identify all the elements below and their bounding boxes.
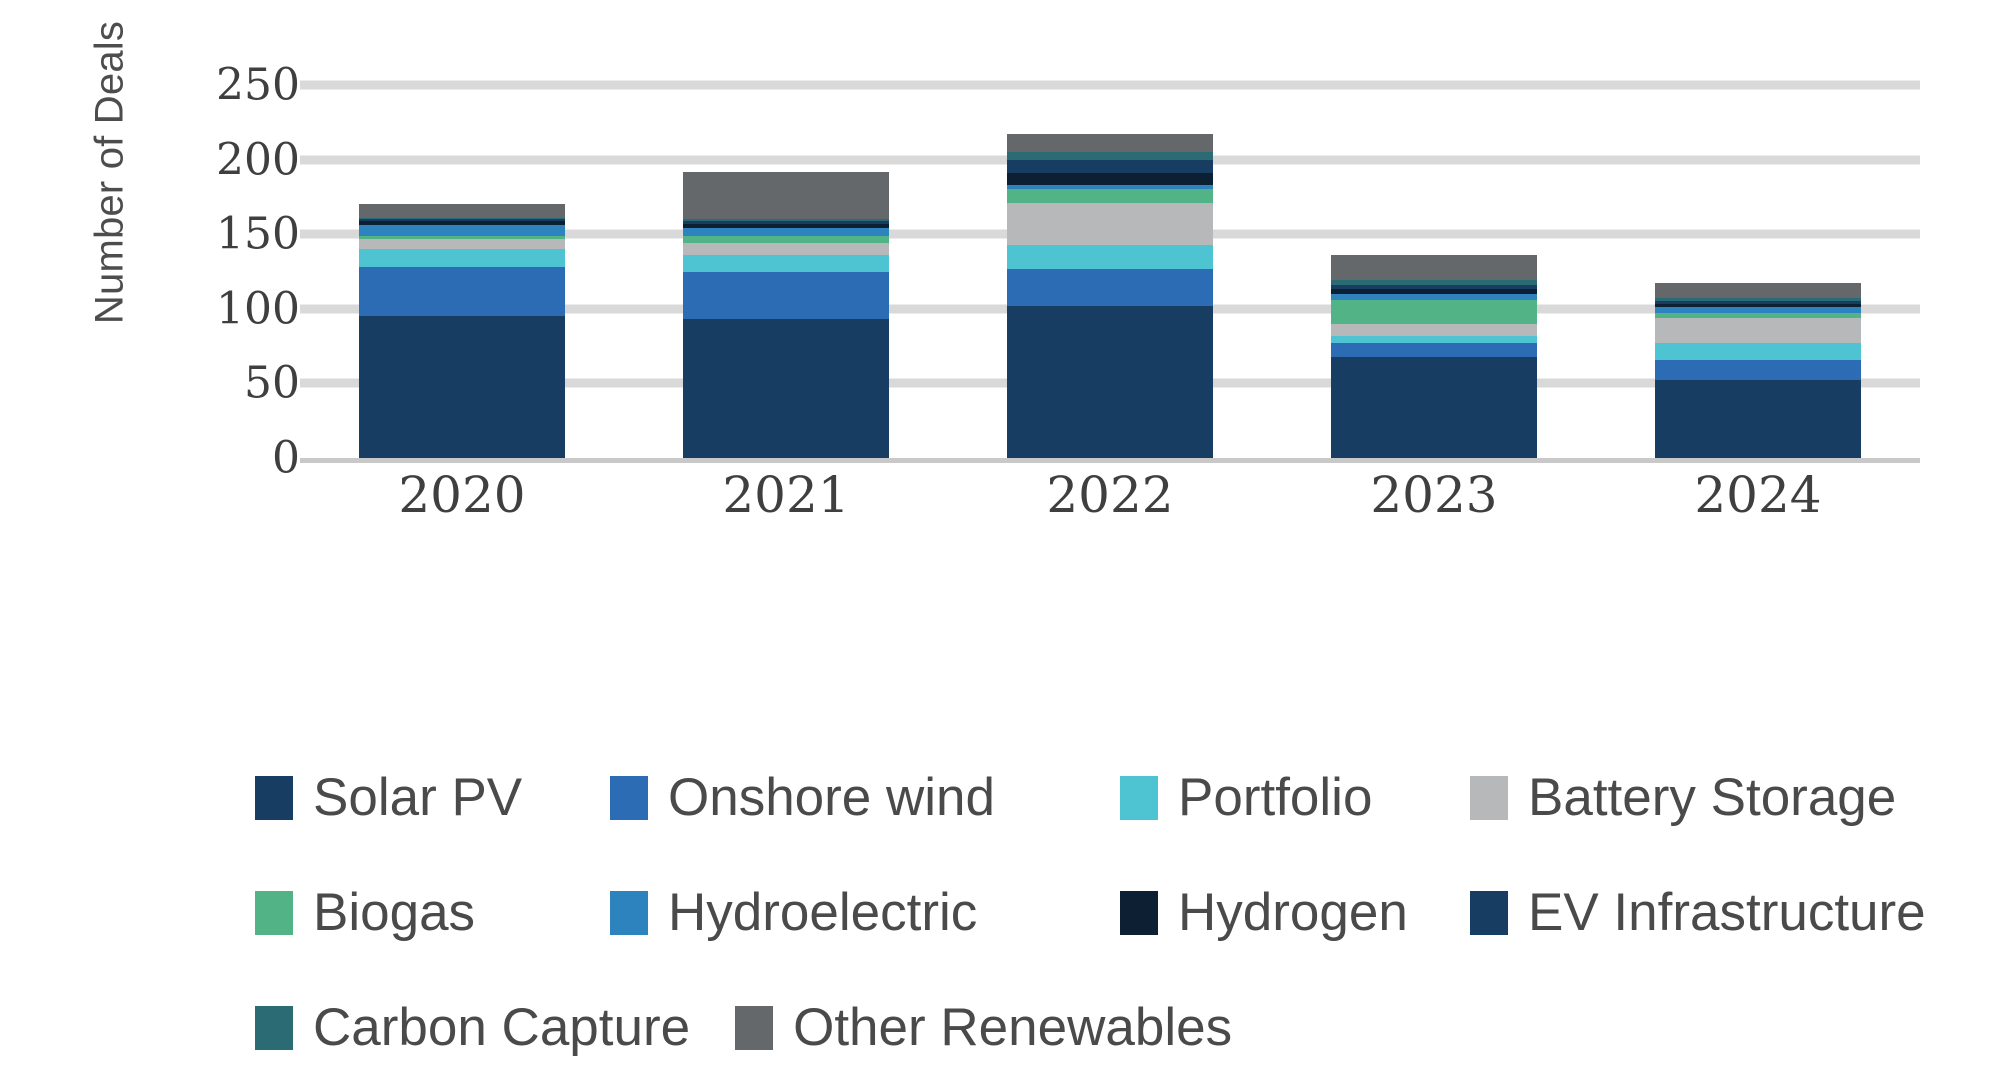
legend-item[interactable]: Carbon Capture	[255, 1001, 690, 1054]
bar-segment[interactable]	[1655, 301, 1861, 304]
bar-stack[interactable]	[683, 0, 889, 458]
legend: Solar PVOnshore windPortfolioBattery Sto…	[0, 740, 2000, 1085]
legend-swatch-icon	[255, 891, 293, 935]
bar-segment[interactable]	[1655, 380, 1861, 458]
bar-segment[interactable]	[359, 218, 565, 219]
bar-stack[interactable]	[1007, 0, 1213, 458]
y-tick-label: 200	[120, 134, 300, 185]
legend-label: EV Infrastructure	[1528, 886, 1926, 939]
legend-label: Hydroelectric	[668, 886, 977, 939]
legend-label: Other Renewables	[793, 1001, 1232, 1054]
bar-segment[interactable]	[1331, 294, 1537, 300]
bar-segment[interactable]	[1331, 289, 1537, 293]
bar-segment[interactable]	[1007, 160, 1213, 173]
bar-segment[interactable]	[1007, 245, 1213, 269]
bar-segment[interactable]	[1007, 203, 1213, 245]
legend-item[interactable]: EV Infrastructure	[1470, 886, 1926, 939]
bar-segment[interactable]	[683, 272, 889, 320]
legend-swatch-icon	[1470, 891, 1508, 935]
legend-item[interactable]: Hydroelectric	[610, 886, 977, 939]
bar-segment[interactable]	[359, 239, 565, 249]
bar-segment[interactable]	[1655, 343, 1861, 359]
bar-segment[interactable]	[1007, 152, 1213, 159]
y-tick-label: 100	[120, 283, 300, 334]
bar-segment[interactable]	[359, 236, 565, 239]
bar-segment[interactable]	[1655, 360, 1861, 381]
bar-segment[interactable]	[683, 172, 889, 220]
legend-row: Solar PVOnshore windPortfolioBattery Sto…	[0, 740, 2000, 855]
y-tick-label: 150	[120, 209, 300, 260]
legend-item[interactable]: Other Renewables	[735, 1001, 1232, 1054]
bar-segment[interactable]	[1007, 269, 1213, 306]
bar-segment[interactable]	[1007, 189, 1213, 202]
legend-swatch-icon	[255, 1006, 293, 1050]
legend-swatch-icon	[1120, 891, 1158, 935]
legend-row: Carbon CaptureOther Renewables	[0, 970, 2000, 1085]
x-tick-label: 2024	[1628, 466, 1888, 524]
bar-segment[interactable]	[359, 267, 565, 316]
bar-segment[interactable]	[359, 316, 565, 458]
bar-segment[interactable]	[1007, 134, 1213, 152]
bar-segment[interactable]	[1655, 304, 1861, 307]
legend-item[interactable]: Solar PV	[255, 771, 522, 824]
bar-segment[interactable]	[1331, 300, 1537, 324]
bar-segment[interactable]	[1007, 306, 1213, 458]
bar-segment[interactable]	[1655, 298, 1861, 301]
y-tick-label: 50	[120, 358, 300, 409]
chart-root: Number of Deals 050100150200250 20202021…	[0, 0, 2000, 1080]
legend-row: BiogasHydroelectricHydrogenEV Infrastruc…	[0, 855, 2000, 970]
x-tick-label: 2020	[332, 466, 592, 524]
legend-item[interactable]: Battery Storage	[1470, 771, 1896, 824]
bar-segment[interactable]	[1331, 357, 1537, 458]
bar-segment[interactable]	[359, 221, 565, 225]
legend-label: Onshore wind	[668, 771, 995, 824]
legend-label: Hydrogen	[1178, 886, 1408, 939]
bar-segment[interactable]	[1007, 185, 1213, 189]
bar-segment[interactable]	[683, 228, 889, 235]
legend-label: Portfolio	[1178, 771, 1372, 824]
legend-item[interactable]: Hydrogen	[1120, 886, 1408, 939]
bar-segment[interactable]	[1655, 307, 1861, 313]
bar-stack[interactable]	[359, 0, 565, 458]
bars-container	[300, 0, 1920, 620]
plot-area: Number of Deals 050100150200250 20202021…	[0, 0, 2000, 620]
legend-label: Biogas	[313, 886, 475, 939]
bar-segment[interactable]	[1331, 255, 1537, 280]
legend-swatch-icon	[735, 1006, 773, 1050]
bar-segment[interactable]	[683, 219, 889, 220]
bar-segment[interactable]	[683, 243, 889, 255]
legend-swatch-icon	[610, 776, 648, 820]
bar-segment[interactable]	[1655, 313, 1861, 317]
y-axis-tick-labels: 050100150200250	[60, 0, 300, 620]
legend-item[interactable]: Biogas	[255, 886, 475, 939]
bar-segment[interactable]	[1331, 336, 1537, 343]
bar-segment[interactable]	[1655, 318, 1861, 343]
bar-segment[interactable]	[359, 219, 565, 220]
bar-segment[interactable]	[359, 225, 565, 235]
bar-segment[interactable]	[1007, 173, 1213, 185]
bar-segment[interactable]	[1655, 283, 1861, 298]
x-tick-label: 2021	[656, 466, 916, 524]
legend-label: Solar PV	[313, 771, 522, 824]
legend-swatch-icon	[1120, 776, 1158, 820]
y-tick-label: 250	[120, 60, 300, 111]
y-tick-label: 0	[120, 433, 300, 484]
bar-segment[interactable]	[683, 221, 889, 224]
legend-swatch-icon	[610, 891, 648, 935]
bar-segment[interactable]	[683, 224, 889, 228]
bar-stack[interactable]	[1655, 0, 1861, 458]
bar-segment[interactable]	[683, 319, 889, 458]
x-tick-label: 2023	[1304, 466, 1564, 524]
legend-swatch-icon	[255, 776, 293, 820]
bar-segment[interactable]	[683, 255, 889, 271]
bar-segment[interactable]	[683, 236, 889, 243]
bar-segment[interactable]	[359, 204, 565, 217]
bar-segment[interactable]	[1331, 285, 1537, 289]
legend-item[interactable]: Onshore wind	[610, 771, 995, 824]
legend-swatch-icon	[1470, 776, 1508, 820]
legend-label: Battery Storage	[1528, 771, 1896, 824]
bar-stack[interactable]	[1331, 0, 1537, 458]
bar-segment[interactable]	[1331, 343, 1537, 356]
legend-item[interactable]: Portfolio	[1120, 771, 1372, 824]
bar-segment[interactable]	[1331, 324, 1537, 336]
bar-segment[interactable]	[1331, 280, 1537, 284]
bar-segment[interactable]	[359, 249, 565, 267]
legend-label: Carbon Capture	[313, 1001, 690, 1054]
x-tick-label: 2022	[980, 466, 1240, 524]
